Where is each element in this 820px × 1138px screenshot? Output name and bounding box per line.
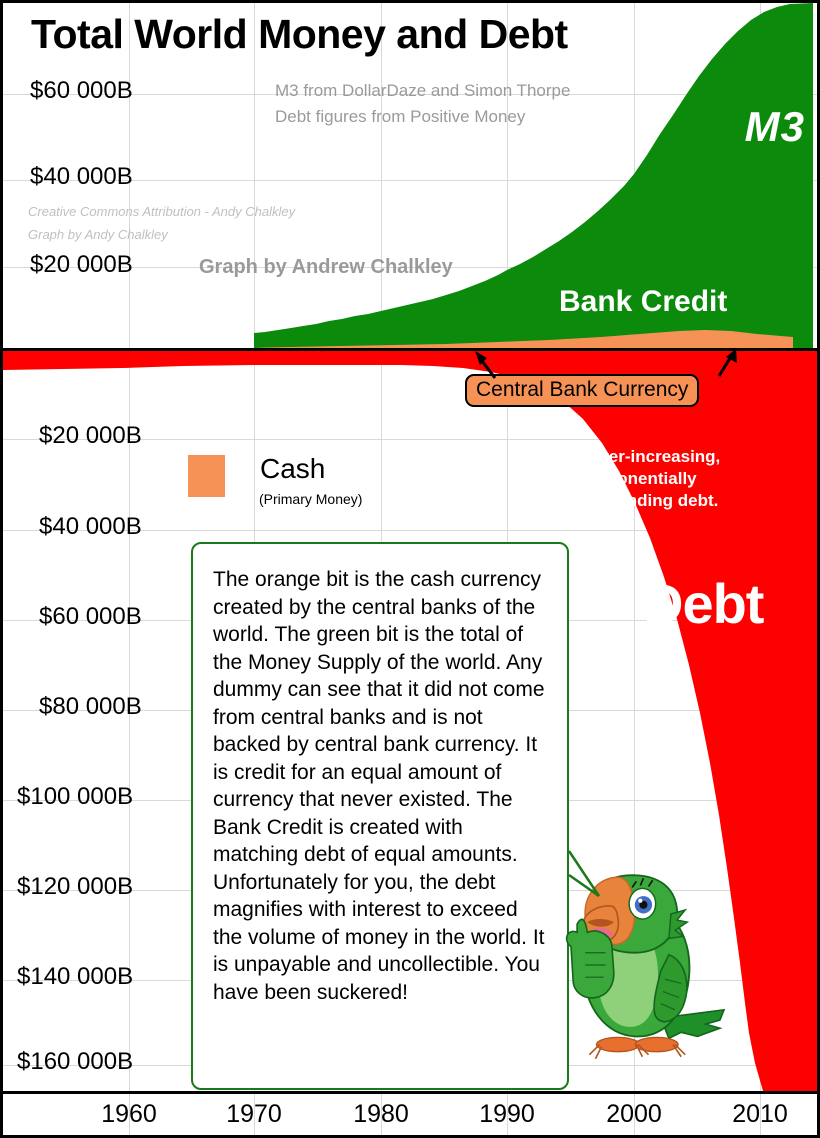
legend-sublabel-primary-money: (Primary Money) (259, 491, 362, 507)
y-label-debt-80000: $80 000B (39, 693, 142, 721)
x-label-2000: 2000 (606, 1100, 662, 1129)
y-label-debt-60000: $60 000B (39, 603, 142, 631)
graph-by-andrew-chalkley: Graph by Andrew Chalkley (199, 256, 453, 279)
y-label-20000: $20 000B (30, 251, 133, 279)
y-label-debt-40000: $40 000B (39, 513, 142, 541)
x-axis-line (3, 1091, 820, 1094)
source-note-m3: M3 from DollarDaze and Simon Thorpe (275, 81, 570, 101)
ever-increasing-debt-note: Ever-increasing, exponentially expanding… (588, 446, 720, 512)
y-label-debt-100000: $100 000B (17, 783, 133, 811)
y-label-40000: $40 000B (30, 163, 133, 191)
y-label-debt-20000: $20 000B (39, 422, 142, 450)
x-label-1990: 1990 (479, 1100, 535, 1129)
y-label-debt-160000: $160 000B (17, 1048, 133, 1076)
x-label-1980: 1980 (353, 1100, 409, 1129)
y-label-60000: $60 000B (30, 77, 133, 105)
legend-swatch-cash (188, 455, 225, 497)
explanation-text: The orange bit is the cash currency crea… (193, 544, 567, 1006)
gridline-v-2000 (634, 3, 635, 1138)
x-label-2010: 2010 (732, 1100, 788, 1129)
infographic-canvas: Total World Money and Debt M3 from Dolla… (0, 0, 820, 1138)
x-axis: 1960 1970 1980 1990 2000 2010 (3, 1094, 820, 1138)
source-note-debt: Debt figures from Positive Money (275, 107, 525, 127)
page-title: Total World Money and Debt (31, 11, 568, 58)
legend-label-cash: Cash (260, 453, 325, 485)
graph-by-andy-chalkley: Graph by Andy Chalkley (28, 227, 168, 242)
central-bank-currency-callout: Central Bank Currency (465, 374, 699, 407)
explanation-callout-box: The orange bit is the cash currency crea… (191, 542, 569, 1090)
creative-commons-attribution: Creative Commons Attribution - Andy Chal… (28, 204, 295, 219)
debt-series-label: Debt (643, 571, 763, 636)
m3-series-label: M3 (745, 103, 805, 151)
x-label-1970: 1970 (226, 1100, 282, 1129)
y-label-debt-120000: $120 000B (17, 873, 133, 901)
zero-axis-line (3, 348, 820, 351)
bank-credit-label: Bank Credit (559, 285, 727, 319)
x-label-1960: 1960 (101, 1100, 157, 1129)
y-label-debt-140000: $140 000B (17, 963, 133, 991)
